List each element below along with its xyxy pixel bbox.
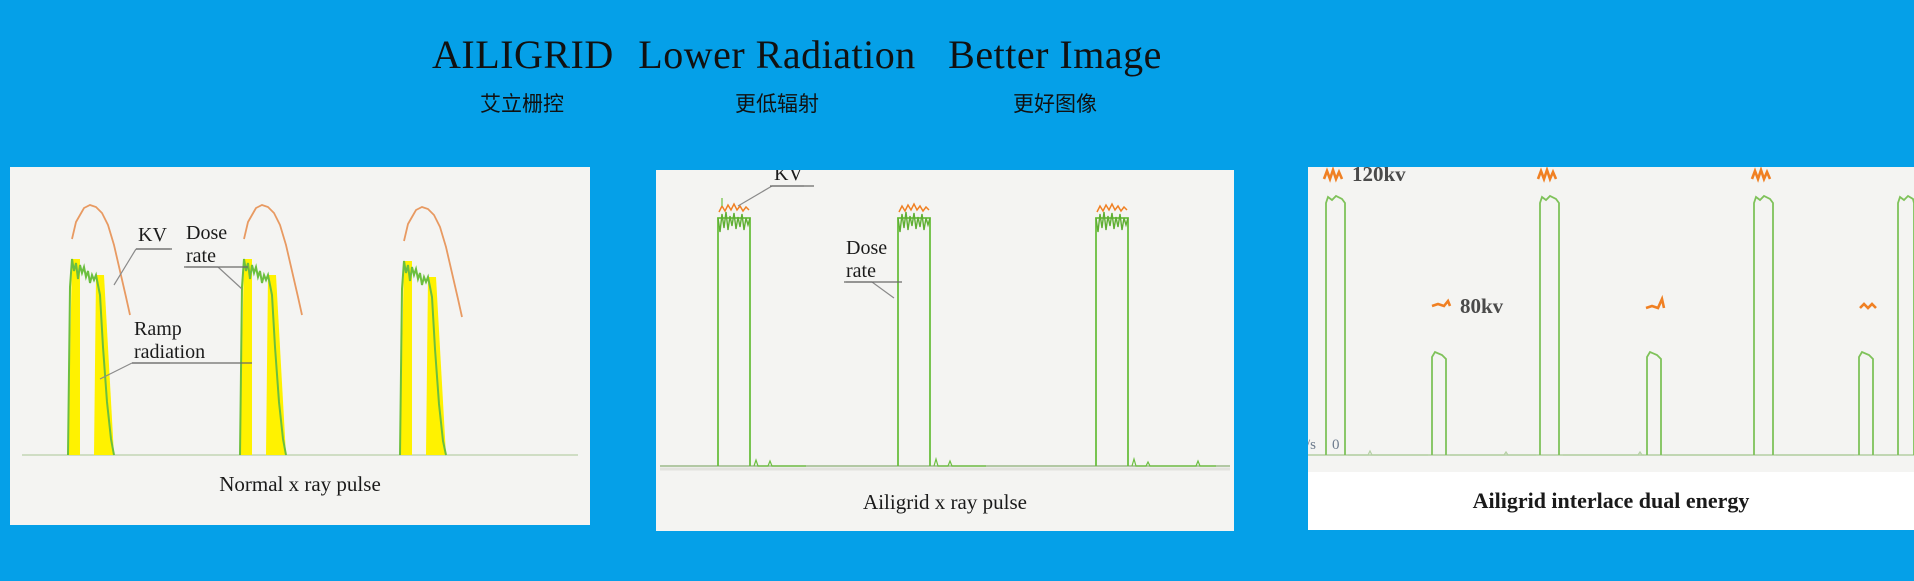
header-title-en-1: Lower Radiation [632, 34, 922, 76]
chart-panel-ailigrid-interlace-dual-energy: /s 0 120kv 80kv [1308, 167, 1914, 530]
header-group-better-image: Better Image 更好图像 [930, 34, 1180, 118]
legend-label-80kv: 80kv [1460, 294, 1504, 318]
dose-rate-crest-noise-2 [898, 212, 930, 232]
header-group-lower-radiation: Lower Radiation 更低辐射 [632, 34, 922, 118]
kv-burst-marker-80-2 [1646, 299, 1664, 308]
pulse-80kv-3 [1859, 352, 1873, 455]
pulse-80kv-1 [1432, 352, 1446, 455]
annotation-kv-label: KV [138, 224, 167, 246]
kv-burst-marker-120-legend [1324, 170, 1342, 179]
chart-panel-ailigrid-x-ray-pulse: KV Dose rate Ailigrid x ray pulse [656, 170, 1234, 531]
annotation-dose-rate: Dose rate [844, 237, 902, 298]
axis-unit-label: /s [1308, 437, 1316, 453]
annotation-dose-rate-line2: rate [846, 260, 876, 282]
dose-rate-crest-noise-1 [718, 212, 750, 232]
annotation-dose-rate-line1: Dose [186, 222, 227, 244]
pulse-120kv-2 [1540, 196, 1559, 455]
panel-caption-ailigrid: Ailigrid x ray pulse [656, 490, 1234, 515]
panel-caption-dual-energy: Ailigrid interlace dual energy [1308, 472, 1914, 530]
kv-burst-marker-120-2 [1538, 170, 1556, 179]
chart-panel-normal-x-ray-pulse: KV Dose rate Ramp radiation Normal x ray… [10, 167, 590, 525]
kv-crest-noise-2 [899, 204, 929, 212]
pulse-80kv-2 [1647, 352, 1661, 455]
plot-area-ailigrid: KV Dose rate [656, 170, 1234, 490]
header-group-ailigrid: AILIGRID 艾立栅控 [432, 34, 612, 118]
kv-burst-marker-80-legend [1432, 301, 1450, 306]
header-banner: AILIGRID 艾立栅控 Lower Radiation 更低辐射 Bette… [0, 24, 1914, 124]
legend-item-80kv: 80kv [1432, 294, 1504, 318]
plot-area-dual-energy: /s 0 120kv 80kv [1308, 167, 1914, 472]
legend-item-120kv: 120kv [1324, 167, 1406, 186]
annotation-dose-rate: Dose rate [184, 222, 248, 289]
pulse-120kv-3 [1754, 196, 1773, 455]
kv-crest-noise-1 [719, 204, 749, 212]
axis-zero-label: 0 [1332, 437, 1340, 453]
header-title-en-0: AILIGRID [432, 34, 612, 76]
annotation-kv: KV [738, 170, 814, 206]
annotation-ramp-radiation: Ramp radiation [100, 318, 252, 379]
annotation-ramp-line2: radiation [134, 341, 205, 363]
header-title-cn-0: 艾立栅控 [432, 88, 612, 118]
dose-rate-pulse-3 [1096, 218, 1128, 466]
dose-rate-pulse-2 [898, 218, 930, 466]
pulse-120kv-1 [1326, 196, 1345, 455]
kv-crest-noise-3 [1097, 204, 1127, 212]
annotation-kv-label: KV [774, 170, 803, 185]
annotation-kv: KV [114, 224, 172, 285]
header-title-en-2: Better Image [930, 34, 1180, 76]
baseline-ripple-2 [934, 459, 986, 466]
legend-label-120kv: 120kv [1352, 167, 1406, 186]
header-title-cn-2: 更好图像 [930, 88, 1180, 118]
annotation-dose-rate-line2: rate [186, 245, 216, 267]
baseline-ripple-1 [754, 460, 806, 466]
panel-caption-normal: Normal x ray pulse [10, 472, 590, 497]
header-title-cn-1: 更低辐射 [632, 88, 922, 118]
dose-rate-crest-noise-3 [1096, 212, 1128, 232]
pulse-120kv-4 [1898, 196, 1914, 455]
baseline-ripple-3 [1132, 459, 1216, 466]
annotation-dose-rate-line1: Dose [846, 237, 887, 259]
dose-rate-pulse-1 [718, 218, 750, 466]
annotation-ramp-line1: Ramp [134, 318, 182, 340]
plot-area-normal: KV Dose rate Ramp radiation [10, 167, 590, 472]
kv-burst-marker-120-3 [1752, 170, 1770, 179]
kv-burst-marker-80-3 [1860, 304, 1876, 308]
